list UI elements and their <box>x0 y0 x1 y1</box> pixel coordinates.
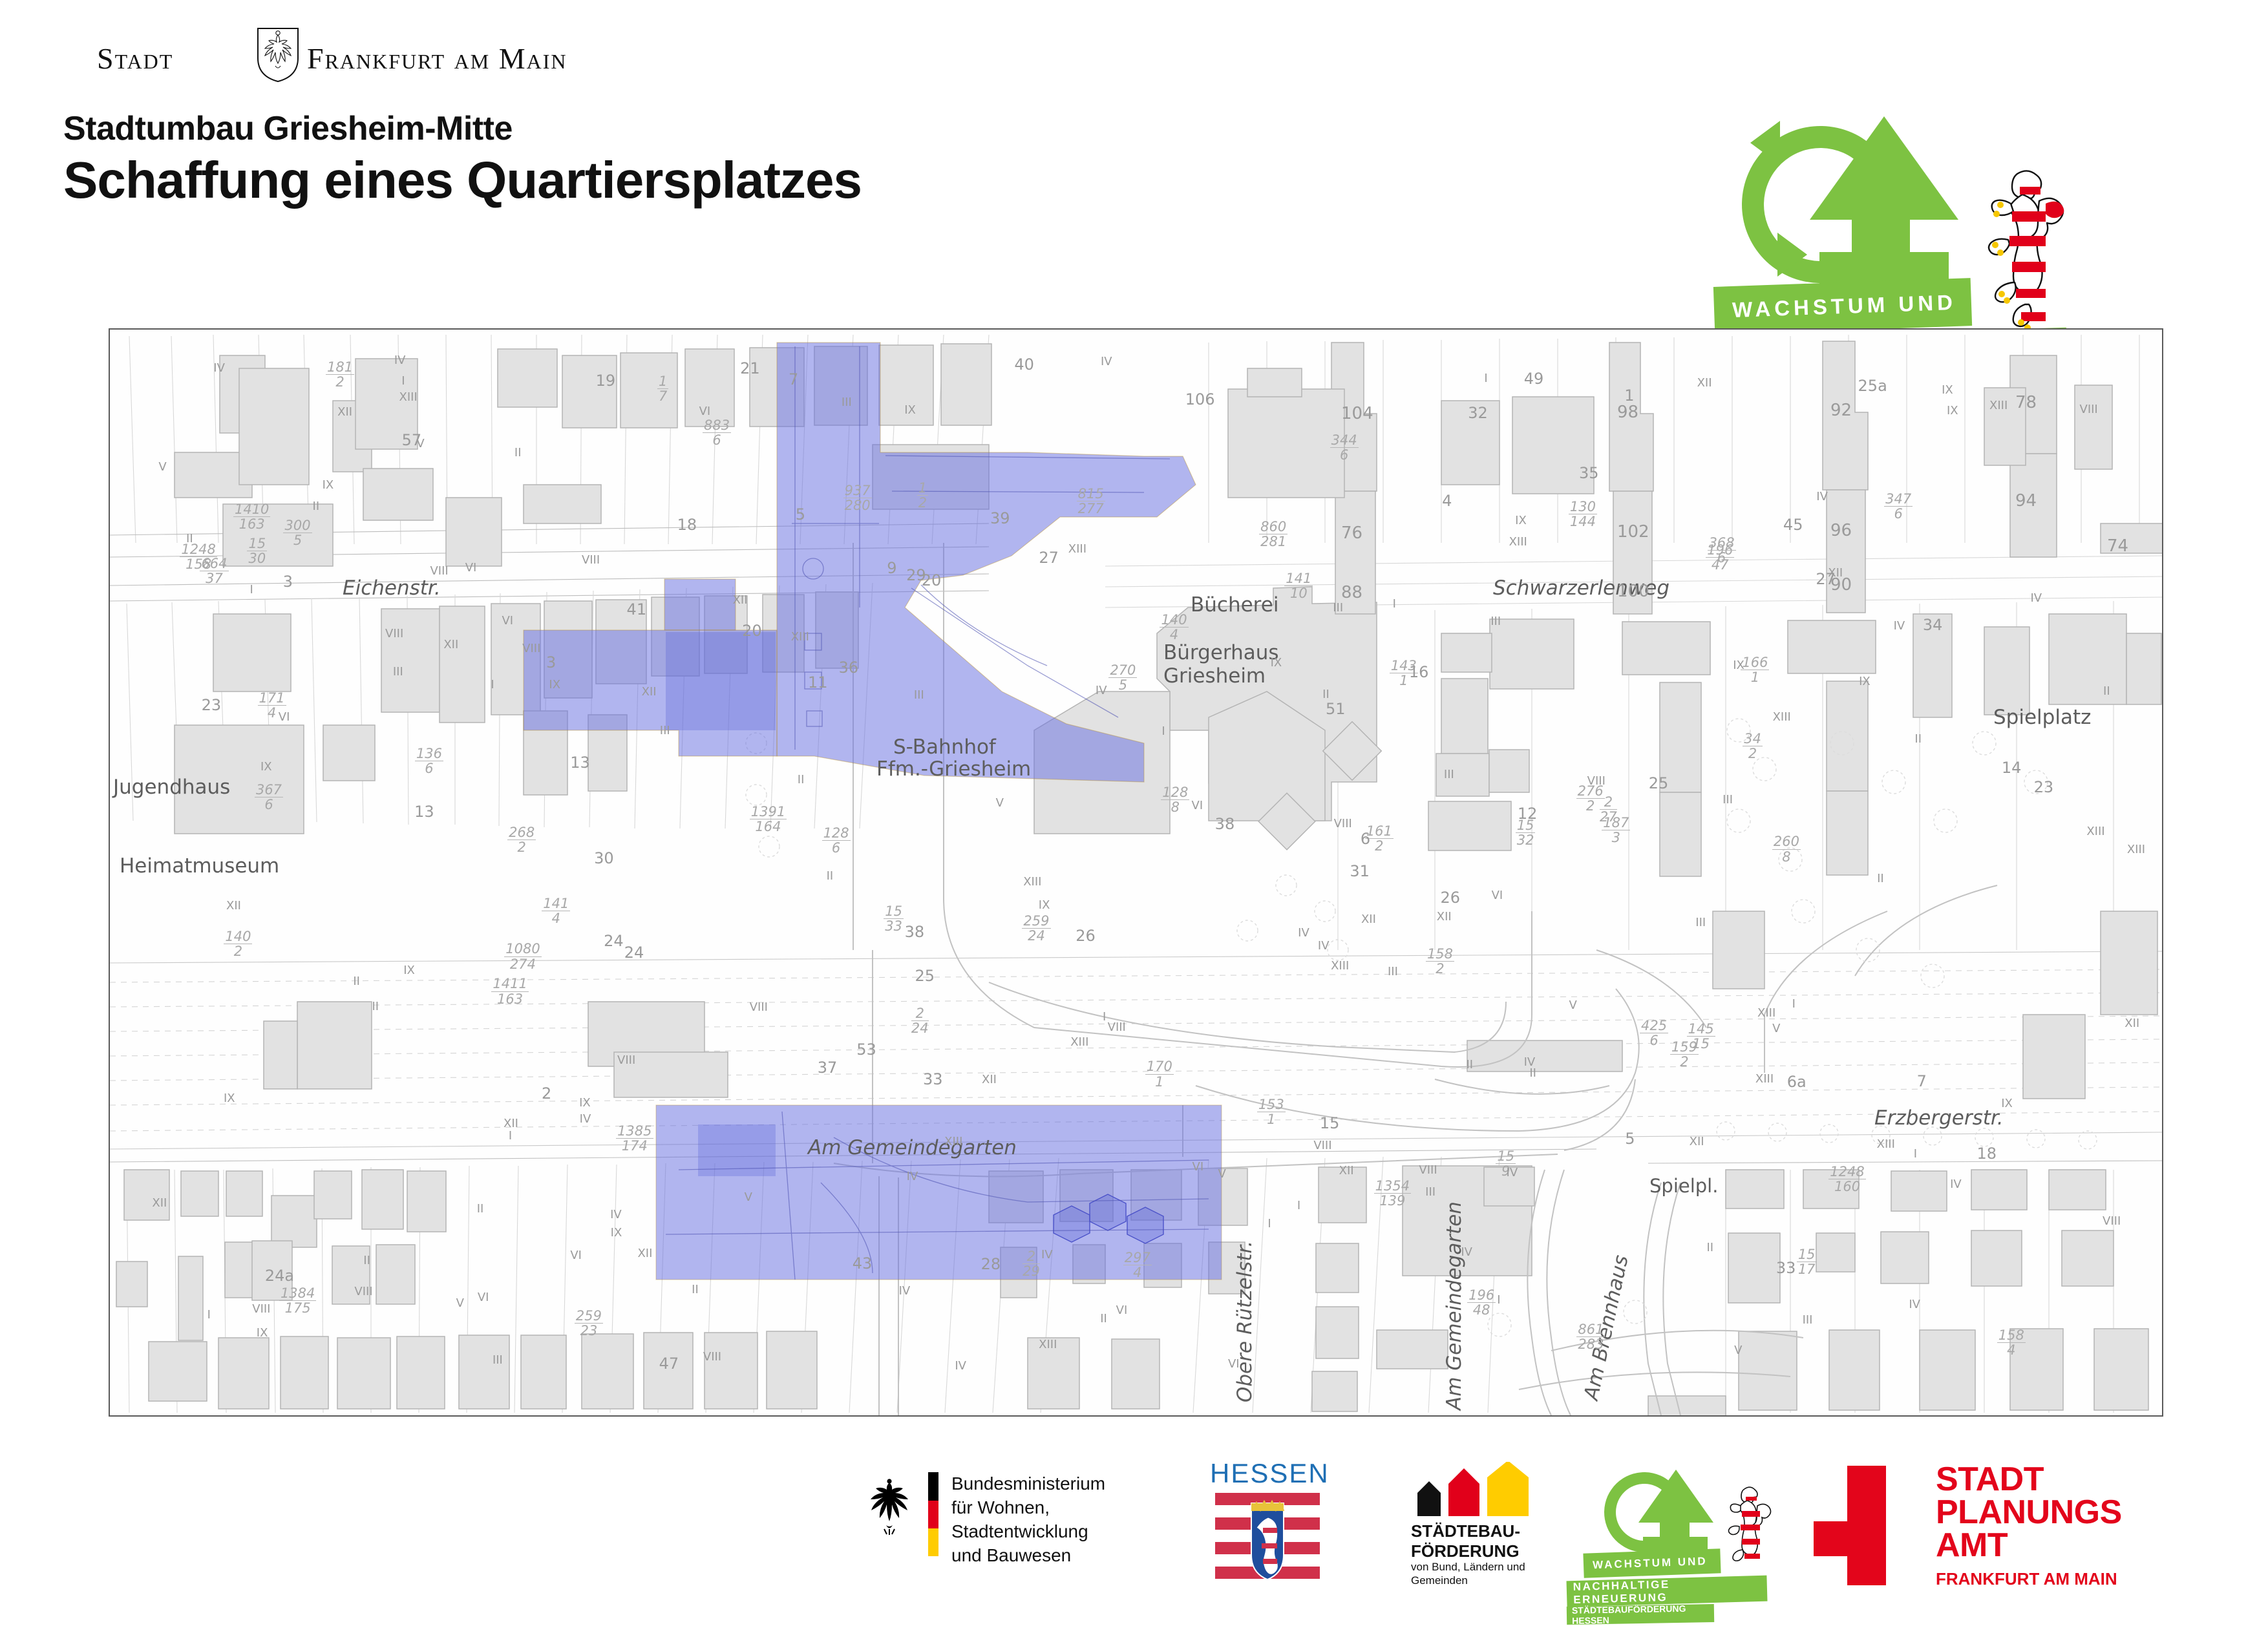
address-number: 25a <box>1858 377 1887 395</box>
storey-marker: IX <box>260 760 272 774</box>
storey-marker: IX <box>611 1226 622 1240</box>
storey-marker: XIII <box>1989 399 2008 412</box>
parcel-number: 1414 <box>542 896 570 925</box>
address-number: 13 <box>570 754 590 772</box>
parcel-number: 25923 <box>575 1309 603 1338</box>
storey-marker: I <box>1914 1147 1917 1161</box>
address-number: 53 <box>856 1040 876 1059</box>
storey-marker: XIII <box>1023 875 1041 889</box>
storey-marker: III <box>1333 601 1343 615</box>
storey-marker: XII <box>1690 1135 1704 1148</box>
parcel-number: 1385174 <box>616 1124 653 1153</box>
parcel-number: 815277 <box>1077 487 1105 516</box>
storey-marker: III <box>1425 1185 1436 1199</box>
address-number: 45 <box>1783 516 1803 534</box>
staedtebaufoerderung-logo: STÄDTEBAU- FÖRDERUNG von Bund, Ländern u… <box>1406 1462 1561 1591</box>
storey-marker: IV <box>1101 355 1112 368</box>
address-number: 9 <box>887 559 896 577</box>
storey-marker: I <box>1497 1293 1500 1307</box>
storey-marker: XIII <box>2127 843 2145 856</box>
address-number: 21 <box>740 359 760 377</box>
storey-marker: V <box>158 460 166 474</box>
parcel-number: 19648 <box>1467 1288 1496 1317</box>
storey-marker: XIII <box>1773 710 1791 724</box>
parcel-number: 1402 <box>224 929 252 958</box>
page-header: Stadt Frankfurt am Main Stadtumbau Gries… <box>0 0 2268 323</box>
address-number: 36 <box>839 659 859 677</box>
address-number: 3 <box>546 653 556 671</box>
house-number-north: 98 <box>1617 403 1638 422</box>
parcel-number: 1080274 <box>504 942 541 971</box>
staedtebau-sub-1: von Bund, Ländern und <box>1411 1560 1525 1574</box>
storey-marker: XIII <box>1070 1035 1088 1049</box>
parcel-number: 3005 <box>283 518 312 547</box>
address-number: 12 <box>1518 805 1538 823</box>
storey-marker: IX <box>549 678 560 692</box>
storey-marker: XII <box>637 1247 652 1260</box>
storey-marker: III <box>1695 916 1706 929</box>
storey-marker: XIII <box>1757 1006 1775 1020</box>
storey-marker: III <box>842 396 852 409</box>
storey-marker: IV <box>1909 1298 1920 1311</box>
parcel-number: 342 <box>1743 732 1763 761</box>
street-label-am-gemeindegarten-vertical: Am Gemeindegarten <box>1443 1201 1466 1410</box>
renewal-arrow-tip-bottom-icon <box>1777 233 1807 277</box>
address-number: 51 <box>1326 700 1346 718</box>
parcel-number: 1366 <box>415 746 443 776</box>
address-number: 6a <box>1787 1073 1807 1091</box>
storey-marker: VIII <box>750 1000 768 1014</box>
badge-line-1-text: WACHSTUM UND <box>1732 290 1956 322</box>
house-number-north: 94 <box>2015 491 2037 511</box>
parcel-number: 1582 <box>1426 947 1454 976</box>
poi-label-heimatmuseum: Heimatmuseum <box>120 854 279 878</box>
house-number-north: 74 <box>2107 536 2128 556</box>
storey-marker: IX <box>2001 1097 2013 1110</box>
storey-marker: II <box>1914 732 1922 746</box>
poi-label-buecherei: Bücherei <box>1191 593 1278 617</box>
footer-badge-line-2-text: NACHHALTIGE ERNEUERUNG <box>1573 1576 1767 1607</box>
storey-marker: XIII <box>2086 825 2104 838</box>
storey-marker: I <box>1267 1217 1271 1230</box>
storey-marker: III <box>914 688 924 702</box>
storey-marker: IX <box>1942 383 1953 397</box>
parcel-number: 1354139 <box>1374 1179 1411 1208</box>
cadastral-map[interactable]: Eichenstr. Schwarzerlenweg Erzbergerstr.… <box>109 328 2163 1417</box>
storey-marker: IX <box>257 1326 268 1340</box>
storey-marker: V <box>996 796 1004 810</box>
address-number: 6 <box>1361 830 1370 848</box>
storey-marker: II <box>1322 688 1330 701</box>
parcel-number: 8836 <box>703 418 731 447</box>
storey-marker: V <box>1218 1167 1225 1181</box>
storey-marker: XIII <box>1755 1072 1774 1086</box>
stadtplanungsamt-mark-icon <box>1810 1466 1907 1585</box>
stadtplanungsamt-line-2: PLANUNGS <box>1936 1496 2122 1529</box>
stadtplanungsamt-subline: FRANKFURT AM MAIN <box>1936 1569 2117 1589</box>
storey-marker: IV <box>1096 684 1107 697</box>
parcel-number: 1404 <box>1160 613 1188 642</box>
storey-marker: VI <box>1492 889 1503 902</box>
footer-badge-line-1-text: WACHSTUM UND <box>1593 1555 1708 1572</box>
storey-marker: VIII <box>703 1350 721 1364</box>
house-number-north: 88 <box>1341 583 1362 602</box>
street-label-eichenstr: Eichenstr. <box>343 576 441 600</box>
parcel-number: 3476 <box>1884 492 1913 521</box>
storey-marker: IV <box>1950 1177 1962 1191</box>
address-number: 23 <box>2034 778 2054 796</box>
footer-badge-line-3-text: STÄDTEBAUFÖRDERUNG HESSEN <box>1572 1603 1715 1626</box>
storey-marker: V <box>416 437 424 450</box>
storey-marker: XII <box>503 1117 518 1130</box>
storey-marker: VIII <box>1334 817 1352 830</box>
renewal-arrow-tip-top-icon <box>1750 121 1780 165</box>
storey-marker: IV <box>394 354 406 367</box>
storey-marker: II <box>186 532 193 545</box>
address-number: 43 <box>853 1254 873 1272</box>
stadtplanungsamt-line-1: STADT <box>1936 1463 2122 1496</box>
address-number: 19 <box>596 372 616 390</box>
parcel-number: 937280 <box>843 483 872 512</box>
storey-marker: IX <box>224 1092 235 1105</box>
storey-marker: VI <box>1192 1160 1204 1174</box>
storey-marker: XIII <box>1331 959 1349 973</box>
address-number: 18 <box>1977 1145 1997 1163</box>
hessen-lion-small-icon <box>1722 1485 1773 1576</box>
storey-marker: XII <box>1828 566 1843 580</box>
storey-marker: VI <box>1116 1304 1128 1317</box>
address-number: 34 <box>1923 616 1943 634</box>
storey-marker: I <box>1103 1010 1106 1024</box>
storey-marker: IX <box>1859 675 1871 688</box>
storey-marker: III <box>1803 1313 1813 1327</box>
storey-marker: IV <box>2031 591 2042 605</box>
storey-marker: II <box>1529 1066 1536 1080</box>
storey-marker: IV <box>1507 1166 1518 1179</box>
address-number: 7 <box>1917 1072 1927 1090</box>
poi-label-buergerhaus: Bürgerhaus <box>1163 641 1279 664</box>
storey-marker: XII <box>733 593 748 607</box>
storey-marker: VIII <box>1108 1020 1126 1034</box>
storey-marker: IX <box>904 403 916 417</box>
parcel-number: 1384175 <box>279 1286 316 1315</box>
bmwsb-text: Bundesministerium für Wohnen, Stadtentwi… <box>951 1472 1170 1568</box>
storey-marker: VIII <box>522 642 540 655</box>
stadtplanungsamt-logo: STADT PLANUNGS AMT FRANKFURT AM MAIN <box>1810 1466 2146 1595</box>
parcel-number: 14515 <box>1687 1022 1715 1051</box>
page-title: Schaffung eines Quartiersplatzes <box>63 151 862 209</box>
storey-marker: XII <box>152 1196 167 1210</box>
house-number-north: 102 <box>1617 522 1649 542</box>
storey-marker: VI <box>699 405 711 418</box>
poi-label-griesheim: Griesheim <box>1163 664 1266 688</box>
parcel-number: 1248160 <box>1828 1165 1865 1194</box>
parcel-number: 3686 <box>1708 536 1736 565</box>
storey-marker: XII <box>226 899 241 913</box>
page-subtitle: Stadtumbau Griesheim-Mitte <box>63 110 862 149</box>
address-number: 2 <box>542 1084 551 1103</box>
storey-marker: V <box>1772 1022 1780 1035</box>
storey-marker: V <box>1569 998 1577 1012</box>
growth-arrow-head-small-icon <box>1638 1470 1713 1523</box>
storey-marker: II <box>514 446 522 459</box>
house-number-north: 78 <box>2015 393 2037 412</box>
address-number: 24 <box>624 944 644 962</box>
address-number: 30 <box>594 849 614 867</box>
parcel-number: 1410163 <box>233 502 270 531</box>
storey-marker: VIII <box>1313 1139 1331 1152</box>
storey-marker: IV <box>1298 926 1309 940</box>
address-number: 106 <box>1185 390 1215 408</box>
storey-marker: V <box>456 1296 464 1310</box>
parcel-number: 2682 <box>507 825 536 854</box>
storey-marker: IV <box>1041 1248 1053 1262</box>
address-number: 15 <box>1320 1114 1340 1132</box>
house-number-north: 100 <box>1617 582 1649 601</box>
storey-marker: II <box>313 500 320 513</box>
house-number-north: 104 <box>1341 404 1373 423</box>
storey-marker: II <box>1877 872 1884 885</box>
storey-marker: XIII <box>399 390 418 404</box>
poi-label-spielplatz: Spielplatz <box>1993 706 2091 729</box>
three-houses-icon <box>1412 1462 1535 1516</box>
storey-marker: II <box>353 975 360 988</box>
poi-label-spielpl: Spielpl. <box>1649 1175 1718 1197</box>
address-number: 33 <box>1776 1259 1796 1277</box>
address-number: 16 <box>1409 663 1429 681</box>
parcel-number: 17 <box>657 374 668 403</box>
storey-marker: II <box>827 869 834 883</box>
storey-marker: III <box>1722 793 1733 807</box>
address-number: 49 <box>1524 370 1544 388</box>
storey-marker: VIII <box>582 553 600 567</box>
storey-marker: III <box>393 665 403 679</box>
address-number: 41 <box>627 600 647 618</box>
parcel-number: 861283 <box>1576 1322 1605 1351</box>
parcel-number: 3446 <box>1330 433 1359 462</box>
staedtebau-line-2: FÖRDERUNG <box>1411 1541 1520 1561</box>
storey-marker: IX <box>1733 659 1744 672</box>
staedtebau-title: STÄDTEBAU- FÖRDERUNG <box>1411 1521 1520 1561</box>
storey-marker: XII <box>1437 910 1452 924</box>
address-number: 28 <box>981 1255 1001 1273</box>
storey-marker: IX <box>579 1096 591 1110</box>
page-footer: Bundesministerium für Wohnen, Stadtentwi… <box>0 1454 2268 1603</box>
address-number: 3 <box>283 573 293 591</box>
address-number: 27 <box>1039 549 1059 567</box>
parcel-number: 1288 <box>1161 785 1189 814</box>
address-number: 25 <box>915 967 935 985</box>
storey-marker: III <box>493 1353 503 1367</box>
poi-label-s-bahnhof: S-Bahnhof <box>893 735 996 759</box>
parcel-number: 2705 <box>1108 663 1137 692</box>
address-number: 25 <box>1649 774 1669 792</box>
storey-marker: XIII <box>1877 1137 1895 1151</box>
storey-marker: II <box>363 1254 370 1267</box>
poi-label-jugendhaus: Jugendhaus <box>113 776 230 799</box>
bundesministerium-logo: Bundesministerium für Wohnen, Stadtentwi… <box>866 1467 1170 1557</box>
address-number: 26 <box>1076 927 1096 945</box>
city-of-frankfurt-logo: Stadt Frankfurt am Main <box>97 32 511 81</box>
storey-marker: VIII <box>2080 403 2098 416</box>
address-number: 18 <box>677 516 697 534</box>
storey-marker: I <box>401 374 405 388</box>
storey-marker: IX <box>403 964 415 977</box>
bmwsb-line-3: und Bauwesen <box>951 1544 1170 1568</box>
address-number: 5 <box>796 505 805 523</box>
address-number: 23 <box>202 696 222 714</box>
poi-label-ffm-griesheim: Ffm.-Griesheim <box>876 757 1031 781</box>
address-number: 13 <box>414 803 434 821</box>
storey-marker: XIII <box>1068 542 1086 556</box>
storey-marker: V <box>1734 1344 1742 1357</box>
staedtebau-sub-2: Gemeinden <box>1411 1574 1525 1587</box>
parcel-number: 2608 <box>1772 834 1801 863</box>
bmwsb-line-2: für Wohnen, Stadtentwicklung <box>951 1496 1170 1544</box>
storey-marker: VI <box>478 1291 489 1304</box>
house-number-north: 92 <box>1830 401 1852 420</box>
staedtebau-line-1: STÄDTEBAU- <box>1411 1521 1520 1541</box>
storey-marker: IX <box>1039 898 1050 912</box>
storey-marker: IX <box>1947 404 1958 417</box>
storey-marker: VIII <box>1419 1163 1437 1177</box>
staedtebau-sub: von Bund, Ländern und Gemeinden <box>1411 1560 1525 1588</box>
storey-marker: VIII <box>252 1302 270 1316</box>
stadtplanungsamt-wordmark: STADT PLANUNGS AMT <box>1936 1463 2122 1562</box>
parcel-number: 1661 <box>1741 655 1769 684</box>
german-flag-bar-icon <box>928 1472 938 1556</box>
parcel-number: 229 <box>1023 1249 1040 1278</box>
storey-marker: XIII <box>791 630 809 644</box>
storey-marker: I <box>250 583 253 597</box>
storey-marker: VIII <box>354 1285 372 1298</box>
address-number: 33 <box>923 1070 943 1088</box>
storey-marker: III <box>1388 965 1398 978</box>
storey-marker: VIII <box>385 627 403 640</box>
storey-marker: IV <box>907 1170 918 1183</box>
parcel-number: 1701 <box>1145 1059 1174 1088</box>
storey-marker: XII <box>443 638 458 651</box>
storey-marker: VI <box>1228 1357 1240 1371</box>
storey-marker: IX <box>1515 514 1527 527</box>
address-number: 47 <box>659 1355 679 1373</box>
storey-marker: I <box>1484 372 1487 385</box>
storey-marker: VIII <box>430 564 448 578</box>
parcel-number: 1531 <box>1257 1097 1286 1126</box>
hessen-lion-icon <box>1975 165 2072 339</box>
storey-marker: VIII <box>1587 774 1606 788</box>
address-number: 11 <box>808 673 828 692</box>
parcel-number: 1391164 <box>750 805 787 834</box>
storey-marker: XII <box>1339 1164 1354 1177</box>
storey-marker: II <box>798 773 805 787</box>
parcel-number: 1517 <box>1797 1247 1817 1276</box>
parcel-number: 14110 <box>1284 571 1313 600</box>
address-number: 35 <box>1579 464 1599 482</box>
storey-marker: IV <box>899 1284 911 1298</box>
storey-marker: VI <box>570 1249 582 1262</box>
storey-marker: I <box>1393 597 1396 611</box>
storey-marker: IV <box>580 1112 591 1126</box>
address-number: 38 <box>905 923 925 941</box>
address-number: 24 <box>604 932 624 950</box>
storey-marker: I <box>491 678 494 692</box>
address-number: 40 <box>1014 355 1034 374</box>
storey-marker: XII <box>1697 376 1712 390</box>
footer-badge-line-2: NACHHALTIGE ERNEUERUNG <box>1567 1576 1768 1607</box>
storey-marker: III <box>1444 768 1454 781</box>
storey-marker: XII <box>337 405 352 419</box>
storey-marker: II <box>372 1000 379 1013</box>
storey-marker: I <box>1297 1199 1300 1212</box>
street-label-erzbergerstr: Erzbergerstr. <box>1874 1106 2004 1130</box>
storey-marker: XIII <box>944 1135 962 1148</box>
address-number: 38 <box>1215 815 1235 833</box>
growth-arrow-head-icon <box>1810 116 1958 220</box>
storey-marker: XII <box>642 685 657 699</box>
storey-marker: I <box>1161 724 1165 738</box>
storey-marker: VI <box>502 614 513 628</box>
storey-marker: IV <box>1461 1245 1472 1259</box>
storey-marker: II <box>1466 1058 1473 1072</box>
address-number: 31 <box>1350 862 1370 880</box>
storey-marker: VI <box>465 561 477 575</box>
address-number: 5 <box>1625 1130 1635 1148</box>
parcel-number: 1584 <box>1997 1328 2026 1357</box>
parcel-number: 2974 <box>1123 1251 1152 1280</box>
parcel-number: 66437 <box>200 556 228 586</box>
address-number: 7 <box>789 370 798 388</box>
parcel-number: 3676 <box>255 783 283 812</box>
address-number: 39 <box>990 509 1010 527</box>
storey-marker: XII <box>2125 1017 2139 1030</box>
address-number: 26 <box>1441 889 1461 907</box>
wachstum-erneuerung-footer-logo: WACHSTUM UND NACHHALTIGE ERNEUERUNG STÄD… <box>1571 1461 1784 1590</box>
storey-marker: II <box>2103 684 2110 698</box>
address-number: 24a <box>265 1267 294 1285</box>
storey-marker: IX <box>1271 656 1282 670</box>
bmwsb-line-1: Bundesministerium <box>951 1472 1170 1496</box>
storey-marker: II <box>1707 1241 1714 1254</box>
storey-marker: XIII <box>1039 1338 1057 1351</box>
title-block: Stadtumbau Griesheim-Mitte Schaffung ein… <box>63 110 862 209</box>
storey-marker: II <box>1100 1312 1107 1325</box>
parcel-number: 1533 <box>884 904 904 933</box>
address-number: 20 <box>742 622 762 640</box>
storey-marker: IV <box>610 1208 622 1221</box>
parcel-number: 130144 <box>1569 500 1597 529</box>
storey-marker: V <box>745 1190 752 1204</box>
storey-marker: XII <box>1361 913 1376 926</box>
storey-marker: VIII <box>617 1053 635 1067</box>
storey-marker: III <box>1490 615 1501 628</box>
bundesadler-icon <box>866 1479 913 1536</box>
hessen-coat-of-arms-icon <box>1215 1492 1320 1587</box>
parcel-number: 2762 <box>1576 784 1605 813</box>
address-number: 32 <box>1468 404 1488 422</box>
stadtplanungsamt-line-3: AMT <box>1936 1529 2122 1562</box>
storey-marker: II <box>477 1202 484 1216</box>
street-label-obere-ruetzelstr: Obere Rützelstr. <box>1233 1241 1256 1402</box>
city-logo-word-stadt: Stadt <box>97 41 173 76</box>
storey-marker: I <box>1792 997 1796 1011</box>
parcel-number: 1411163 <box>491 977 528 1006</box>
street-label-am-gemeindegarten: Am Gemeindegarten <box>808 1136 1017 1159</box>
storey-marker: IV <box>213 361 225 375</box>
address-number: 37 <box>818 1059 838 1077</box>
parcel-number: 1530 <box>247 536 267 565</box>
storey-marker: IV <box>1318 939 1330 953</box>
